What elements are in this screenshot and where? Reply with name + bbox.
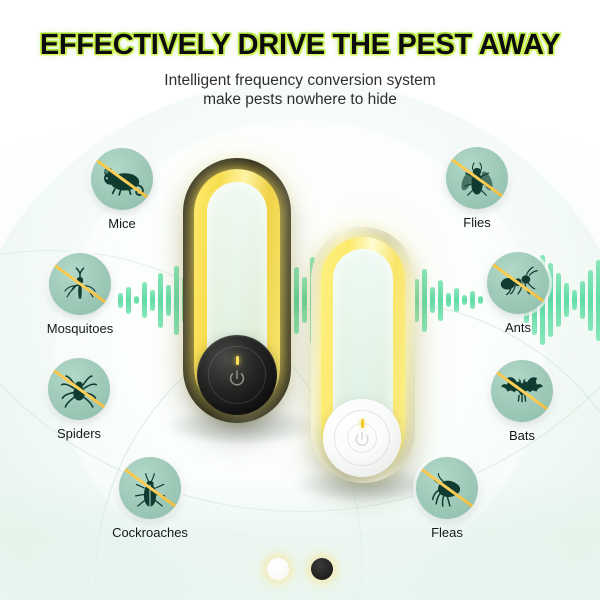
soundwave-bar [302, 277, 307, 323]
soundwave-bar [126, 287, 131, 314]
soundwave-bar [150, 290, 155, 311]
pest-badge-spiders[interactable]: Spiders [36, 358, 122, 441]
color-variant-swatches [0, 558, 600, 580]
white-device-led-indicator [361, 419, 364, 428]
soundwave-bar [294, 286, 299, 315]
soundwave-bar [438, 280, 443, 321]
power-icon[interactable] [226, 368, 248, 390]
white-device-base[interactable] [323, 399, 401, 477]
flea-icon [416, 457, 478, 519]
soundwave-bar [454, 288, 459, 312]
pest-label: Cockroaches [107, 525, 193, 540]
soundwave-bar [302, 285, 307, 315]
pest-badge-fleas[interactable]: Fleas [404, 457, 490, 540]
soundwave-bar [294, 267, 299, 334]
soundwave-bar [588, 270, 593, 331]
soundwave-bar [446, 293, 451, 307]
pest-badge-mice[interactable]: Mice [79, 148, 165, 231]
product-black-repeller[interactable] [183, 158, 291, 423]
soundwave-bar [580, 281, 585, 319]
mosquito-icon [49, 253, 111, 315]
black-device-led-indicator [236, 356, 239, 365]
mouse-icon [91, 148, 153, 210]
subtitle-line-2: make pests nowhere to hide [203, 91, 397, 108]
pest-label: Fleas [404, 525, 490, 540]
pest-label: Mosquitoes [37, 321, 123, 336]
ant-icon [487, 252, 549, 314]
soundwave-bar [142, 282, 147, 318]
cockroach-icon [119, 457, 181, 519]
pest-badge-cockroaches[interactable]: Cockroaches [107, 457, 193, 540]
pest-badge-mosquitoes[interactable]: Mosquitoes [37, 253, 123, 336]
pest-label: Mice [79, 216, 165, 231]
soundwave-bar [174, 266, 179, 335]
pest-badge-ants[interactable]: Ants [475, 252, 561, 335]
soundwave-bar [158, 273, 163, 328]
soundwave-bar [166, 285, 171, 316]
product-infographic: EFFECTIVELY DRIVE THE PEST AWAY Intellig… [0, 0, 600, 600]
fly-icon [446, 147, 508, 209]
soundwave-bar [462, 295, 467, 305]
subtitle: Intelligent frequency conversion system … [0, 60, 600, 109]
pest-badge-flies[interactable]: Flies [434, 147, 520, 230]
pest-label: Spiders [36, 426, 122, 441]
swatch-white-variant[interactable] [267, 558, 289, 580]
soundwave-bar [572, 290, 577, 310]
pest-label: Bats [479, 428, 565, 443]
soundwave-bar [430, 287, 435, 313]
soundwave-bar [596, 260, 600, 341]
background-floor [0, 480, 600, 600]
bat-icon [491, 360, 553, 422]
pest-label: Flies [434, 215, 520, 230]
page-title: EFFECTIVELY DRIVE THE PEST AWAY [0, 0, 600, 60]
pest-badge-bats[interactable]: Bats [479, 360, 565, 443]
power-icon[interactable] [352, 430, 372, 450]
product-white-repeller[interactable] [311, 227, 415, 483]
spider-icon [48, 358, 110, 420]
header: EFFECTIVELY DRIVE THE PEST AWAY Intellig… [0, 0, 600, 109]
soundwave-bar [422, 269, 427, 332]
soundwave-bar [134, 296, 139, 304]
black-device-base[interactable] [197, 335, 277, 415]
subtitle-line-1: Intelligent frequency conversion system [164, 72, 435, 89]
soundwave-bar [564, 283, 569, 317]
pest-label: Ants [475, 320, 561, 335]
swatch-black-variant[interactable] [311, 558, 333, 580]
